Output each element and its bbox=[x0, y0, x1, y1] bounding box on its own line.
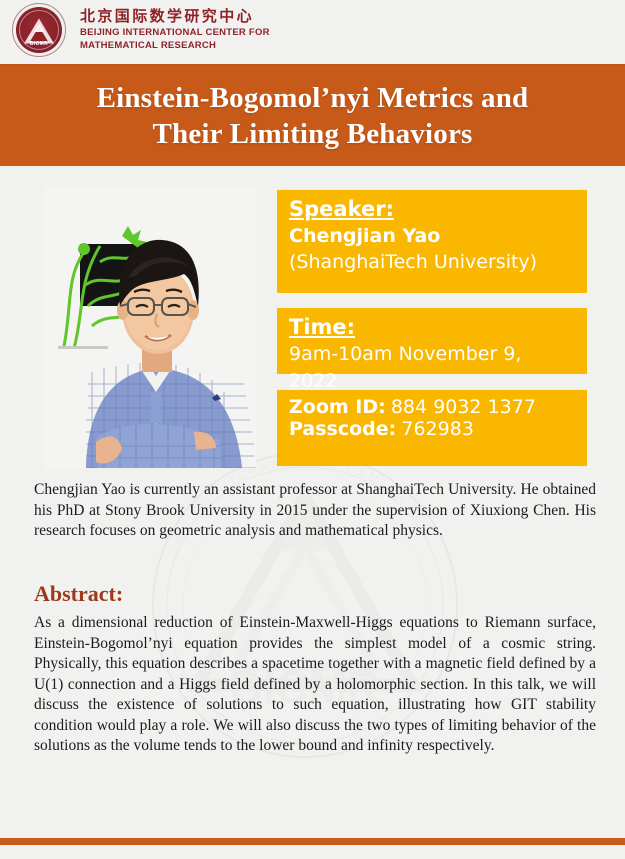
zoom-id-value[interactable]: 884 9032 1377 bbox=[391, 396, 536, 418]
seminar-poster: BICMR 北京国际数学研究中心 BEIJING INTERNATIONAL C… bbox=[0, 0, 625, 859]
time-heading: Time: bbox=[289, 314, 355, 341]
speaker-info-box: Speaker: Chengjian Yao (ShanghaiTech Uni… bbox=[277, 190, 587, 293]
speaker-heading: Speaker: bbox=[289, 196, 394, 223]
passcode-value[interactable]: 762983 bbox=[401, 418, 474, 440]
speaker-photo-image bbox=[44, 186, 256, 468]
logo-wordmark: BICMR bbox=[13, 41, 65, 47]
time-value: 9am-10am November 9, 2022 bbox=[289, 341, 575, 395]
bicmr-logo-icon: BICMR bbox=[12, 3, 66, 57]
speaker-bio: Chengjian Yao is currently an assistant … bbox=[34, 480, 596, 542]
institute-name-english-line2: MATHEMATICAL RESEARCH bbox=[80, 39, 380, 52]
institute-name-english: BEIJING INTERNATIONAL CENTER FOR MATHEMA… bbox=[80, 26, 380, 52]
institute-name-english-line1: BEIJING INTERNATIONAL CENTER FOR bbox=[80, 26, 380, 39]
speaker-photo bbox=[44, 186, 256, 468]
page-title: Einstein-Bogomol’nyi Metrics and Their L… bbox=[57, 80, 569, 152]
page-title-line2: Their Limiting Behaviors bbox=[97, 116, 529, 152]
footer-divider bbox=[0, 838, 625, 845]
abstract-heading: Abstract: bbox=[34, 581, 123, 607]
title-banner: Einstein-Bogomol’nyi Metrics and Their L… bbox=[0, 66, 625, 166]
passcode-row: Passcode: 762983 bbox=[289, 418, 575, 440]
zoom-info-box: Zoom ID: 884 9032 1377 Passcode: 762983 bbox=[277, 390, 587, 466]
page-title-line1: Einstein-Bogomol’nyi Metrics and bbox=[97, 80, 529, 116]
zoom-id-label: Zoom ID bbox=[289, 396, 378, 418]
speaker-name: Chengjian Yao bbox=[289, 223, 575, 249]
zoom-id-row: Zoom ID: 884 9032 1377 bbox=[289, 396, 575, 418]
zoom-id-separator: : bbox=[378, 396, 386, 418]
time-info-box: Time: 9am-10am November 9, 2022 bbox=[277, 308, 587, 374]
speaker-affiliation: (ShanghaiTech University) bbox=[289, 249, 575, 276]
passcode-label: Passcode bbox=[289, 418, 389, 440]
abstract-body: As a dimensional reduction of Einstein-M… bbox=[34, 613, 596, 757]
passcode-separator: : bbox=[389, 418, 397, 440]
page-header: BICMR 北京国际数学研究中心 BEIJING INTERNATIONAL C… bbox=[0, 0, 625, 58]
institute-name-chinese: 北京国际数学研究中心 bbox=[80, 5, 254, 26]
